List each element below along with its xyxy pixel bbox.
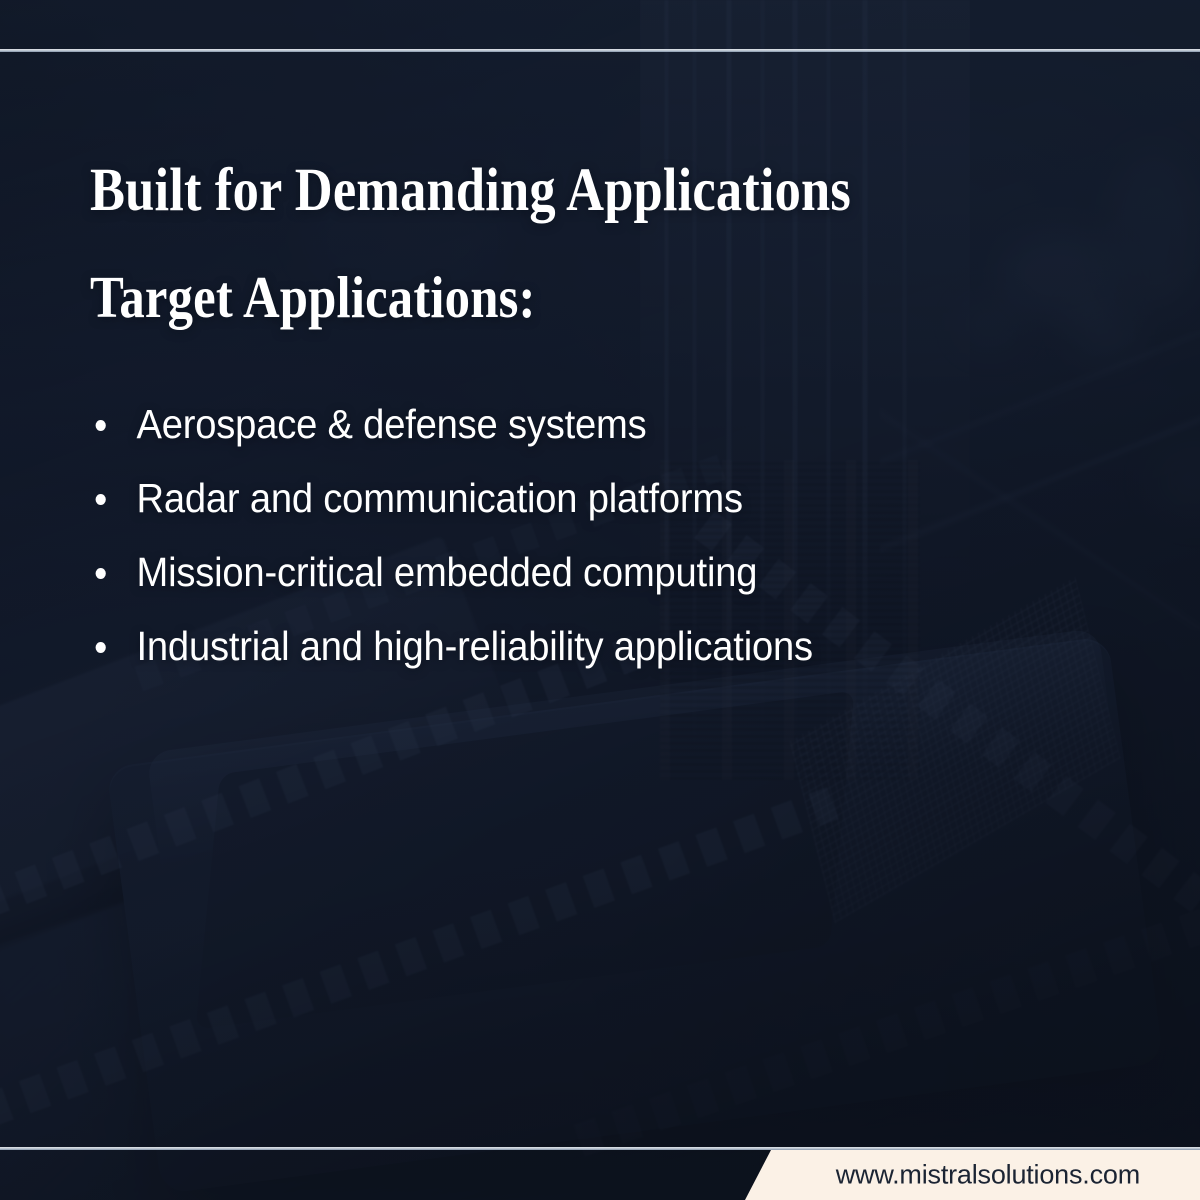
- bullet-dot-icon: [96, 420, 106, 431]
- content-area: Built for Demanding Applications Target …: [0, 0, 1200, 1200]
- social-card: Built for Demanding Applications Target …: [0, 0, 1200, 1200]
- bullet-dot-icon: [96, 568, 106, 579]
- list-item-label: Radar and communication platforms: [137, 475, 743, 521]
- list-item: Industrial and high-reliability applicat…: [90, 626, 1001, 667]
- footer-angled-plate: www.mistralsolutions.com: [745, 1150, 1200, 1200]
- list-item-label: Industrial and high-reliability applicat…: [137, 623, 813, 669]
- list-item: Aerospace & defense systems: [90, 404, 1001, 445]
- list-item-label: Aerospace & defense systems: [137, 401, 647, 447]
- bullet-dot-icon: [96, 642, 106, 653]
- target-applications-list: Aerospace & defense systems Radar and co…: [90, 404, 1070, 700]
- list-item: Mission-critical embedded computing: [90, 552, 1001, 593]
- bullet-dot-icon: [96, 494, 106, 505]
- section-subheading: Target Applications:: [90, 266, 536, 330]
- page-title: Built for Demanding Applications: [90, 158, 851, 224]
- footer-band: www.mistralsolutions.com: [0, 1150, 1200, 1200]
- website-url[interactable]: www.mistralsolutions.com: [836, 1160, 1140, 1191]
- list-item: Radar and communication platforms: [90, 478, 1001, 519]
- list-item-label: Mission-critical embedded computing: [137, 549, 758, 595]
